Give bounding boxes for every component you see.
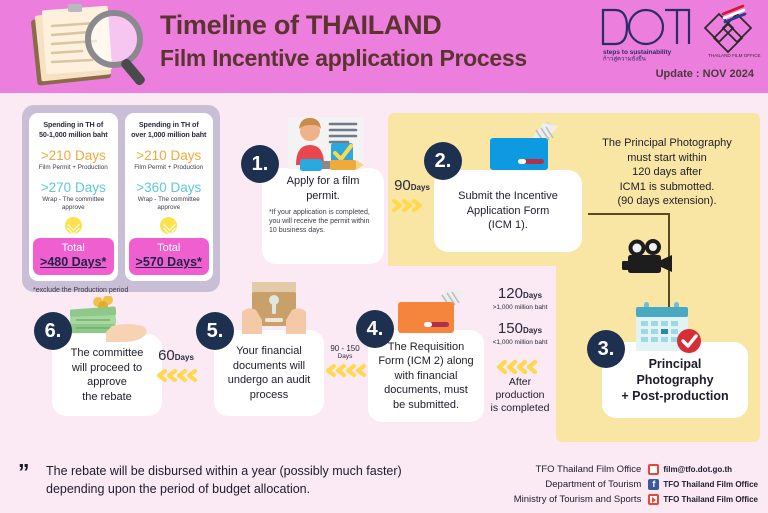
step-card-5[interactable]: Your financial documents will undergo an… [214,330,324,416]
duration-3-4-sub-a: >1,000 million baht [484,304,556,312]
email-icon [648,464,659,475]
spend1-days-b-sub-l2: approve [33,204,114,212]
document-magnifier-icon [22,2,162,92]
arrows-left-icon [484,359,556,374]
step6-title-l3: approve [59,375,155,390]
contact-youtube[interactable]: TFO Thailand Film Office [648,492,758,507]
update-date: Update : NOV 2024 [656,68,754,80]
contact-facebook-text: TFO Thailand Film Office [663,480,758,489]
step3-title-l3: + Post-production [609,388,741,404]
spend2-total-value: >570 Days* [131,255,208,270]
step1-note-l3: 10 business days. [269,226,377,235]
spend2-days-b-sub-l1: Wrap - The committee [129,196,210,204]
facebook-icon: f [648,479,659,490]
step1-title-l2: permit. [269,189,377,204]
connector-horizontal [588,213,670,215]
duration-1-2-value: 90Days [386,178,438,196]
step2-title-l3: (ICM 1). [441,218,575,233]
spend1-days-a-sub: Film Permit + Production [33,164,114,172]
contact-facebook[interactable]: f TFO Thailand Film Office [648,477,758,492]
duration-3-4-value-a: 120Days [484,286,556,304]
spend2-days-a-sub: Film Permit + Production [129,164,210,172]
step-badge-2: 2. [424,142,462,180]
svg-text:THAILAND FILM OFFICE: THAILAND FILM OFFICE [708,53,761,58]
footer-org-names: TFO Thailand Film Office Department of T… [514,462,642,507]
logo-dot-tagline: steps to sustainability [603,49,672,56]
step3-title-l2: Photography [609,372,741,388]
spend1-total-value: >480 Days* [35,255,112,270]
svg-text:ก้าวสู่ความยั่งยืน: ก้าวสู่ความยั่งยืน [603,55,646,63]
footer-contact-block: TFO Thailand Film Office Department of T… [514,462,758,507]
step5-title-l4: process [221,388,317,403]
title-line-1: Timeline of THAILAND [160,8,590,42]
spend1-total-label: Total [35,242,112,255]
footer-quote: ” The rebate will be disbursed within a … [18,462,468,498]
page-title: Timeline of THAILAND Film Incentive appl… [160,8,590,74]
spend2-total-label: Total [131,242,208,255]
quote-line-1: The rebate will be disbursed within a ye… [46,462,468,480]
duration-4-5-value: 90 - 150 [322,345,368,353]
chevron-down-icon [65,217,82,234]
step1-note-l1: *If your application is completed, [269,208,377,217]
blue-folder-icon [488,122,560,182]
org-line-1: TFO Thailand Film Office [514,462,642,477]
spend2-heading-l2: over 1,000 million baht [129,130,210,140]
money-hand-icon [62,296,152,353]
contact-email[interactable]: film@tfo.dot.go.th [648,462,758,477]
org-line-2: Department of Tourism [514,477,642,492]
duration-step5-to-step6: 60Days [152,348,200,383]
duration-4-5-unit: Days [322,353,368,361]
step-badge-5: 5. [196,312,234,350]
spend2-total-box: Total >570 Days* [129,238,210,275]
ynote-line-4: ICM1 is submotted. [572,180,762,195]
title-line-2: Film Incentive application Process [160,42,590,74]
orange-folder-icon [396,288,468,343]
spend2-days-b: >360 Days [129,180,210,195]
arrows-left-icon [322,363,368,378]
poster-header: Timeline of THAILAND Film Incentive appl… [0,0,768,93]
step-card-2[interactable]: Submit the Incentive Application Form (I… [434,170,582,252]
step5-title-l3: undergo an audit [221,373,317,388]
infographic-poster: Timeline of THAILAND Film Incentive appl… [0,0,768,513]
step4-title-l3: with financial [375,369,477,384]
step4-title-l2: Form (ICM 2) along [375,354,477,369]
duration-step4-to-step5: 90 - 150 Days [322,345,368,378]
duration-3-4-sub-b: <1,000 million baht [484,339,556,347]
step6-title-l2: will proceed to [59,361,155,376]
duration-3-4-unit-b: Days [523,326,542,335]
spending-card-tier-1: Spending in TH of 50-1,000 million baht … [29,113,118,281]
spend1-days-b-sub-l1: Wrap - The committee [33,196,114,204]
step6-title-l4: the rebate [59,390,155,405]
spend2-days-a: >210 Days [129,148,210,163]
duration-3-4-after-l2: production [484,389,556,402]
spend1-heading-l2: 50-1,000 million baht [33,130,114,140]
step1-note-l2: you will receive the permit within [269,217,377,226]
step-card-1[interactable]: Apply for a film permit. *If your applic… [262,168,384,264]
ynote-line-5: (90 days extension). [572,194,762,209]
contact-email-text: film@tfo.dot.go.th [663,465,732,474]
person-checklist-icon [286,115,366,182]
quote-line-2: depending upon the period of budget allo… [46,480,468,498]
step-badge-1: 1. [241,145,279,183]
duration-1-2-unit: Days [411,183,430,192]
spend1-days-a: >210 Days [33,148,114,163]
footer-contact-links: film@tfo.dot.go.th f TFO Thailand Film O… [648,462,758,507]
youtube-icon [648,494,659,505]
spend2-heading-l1: Spending in TH of [129,120,210,130]
duration-3-4-after-l1: After [484,376,556,389]
duration-step1-to-step2: 90Days [386,178,438,213]
org-line-3: Ministry of Tourism and Sports [514,492,642,507]
duration-step3-to-step4: 120Days >1,000 million baht 150Days <1,0… [484,286,556,415]
step2-title-l2: Application Form [441,204,575,219]
step5-title-l1: Your financial [221,344,317,359]
movie-camera-icon [620,238,676,283]
spending-footnote: *exclude the Production period [29,287,213,294]
spend1-days-b: >270 Days [33,180,114,195]
arrows-left-icon [152,368,200,383]
spend1-total-box: Total >480 Days* [33,238,114,275]
step-badge-4: 4. [356,310,394,348]
envelope-hands-icon [238,278,310,341]
logo-group: steps to sustainability ก้าวสู่ความยั่งย… [597,4,762,62]
quote-mark-icon: ” [18,465,30,479]
spending-summary-panel: Spending in TH of 50-1,000 million baht … [22,105,220,292]
spend2-days-b-sub-l2: approve [129,204,210,212]
step-badge-6: 6. [34,312,72,350]
duration-3-4-unit-a: Days [523,291,542,300]
step5-title-l2: documents will [221,359,317,374]
ynote-line-2: must start within [572,151,762,166]
ynote-line-1: The Principal Photography [572,136,762,151]
step-badge-3: 3. [587,330,625,368]
spend1-heading-l1: Spending in TH of [33,120,114,130]
contact-youtube-text: TFO Thailand Film Office [663,495,758,504]
step4-title-l5: be submitted. [375,398,477,413]
calendar-check-icon [632,300,706,361]
principal-photography-note: The Principal Photography must start wit… [572,136,762,209]
chevron-down-icon [160,217,177,234]
duration-5-6-value: 60Days [152,348,200,366]
step4-title-l4: documents, must [375,383,477,398]
spending-card-tier-2: Spending in TH of over 1,000 million bah… [125,113,214,281]
ynote-line-3: 120 days after [572,165,762,180]
duration-5-6-unit: Days [175,353,194,362]
step2-title-l1: Submit the Incentive [441,189,575,204]
duration-3-4-value-b: 150Days [484,321,556,339]
arrows-right-icon [386,198,438,213]
duration-3-4-after-l3: is completed [484,402,556,415]
